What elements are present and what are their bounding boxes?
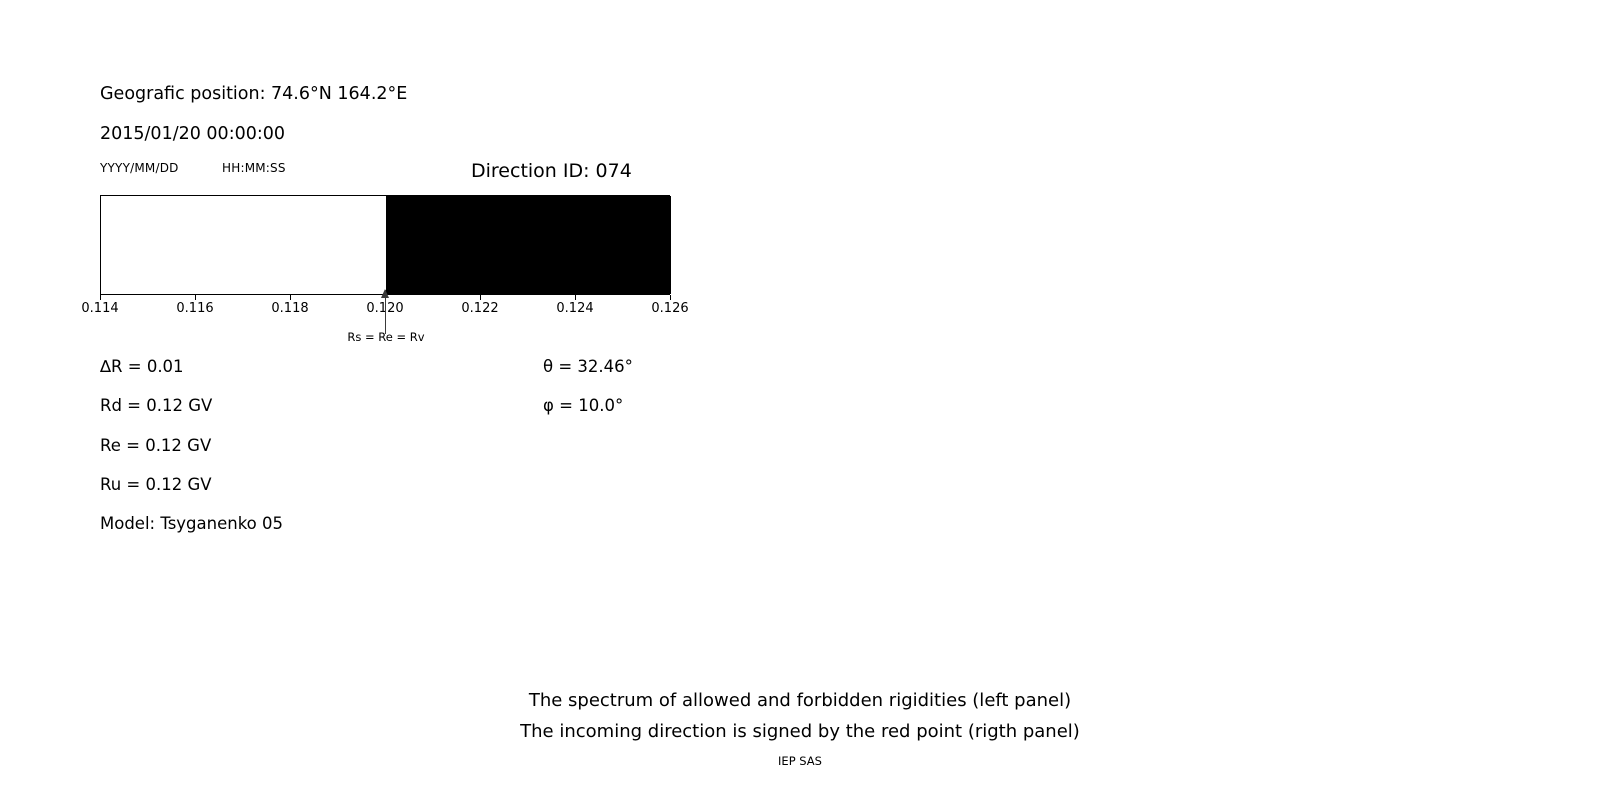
parameter-item: ∆R = 0.01: [100, 357, 184, 376]
parameter-item: θ = 32.46°: [543, 357, 633, 376]
cutoff-arrow-label: Rs = Re = Rv: [347, 330, 424, 344]
spectrum-tick-label: 0.116: [176, 301, 213, 316]
spectrum-allowed-band: [101, 196, 386, 294]
spectrum-forbidden-band: [386, 196, 671, 294]
spectrum-tick: [290, 295, 291, 300]
parameter-item: Ru = 0.12 GV: [100, 475, 212, 494]
date-format-label: YYYY/MM/DD: [100, 161, 179, 175]
spectrum-tick-label: 0.122: [461, 301, 498, 316]
spectrum-tick: [480, 295, 481, 300]
spectrum-tick: [670, 295, 671, 300]
direction-id-label: Direction ID: 074: [471, 160, 632, 182]
cutoff-arrow-icon: [385, 290, 387, 334]
figure-caption: The spectrum of allowed and forbidden ri…: [0, 685, 1600, 747]
parameter-item: Rd = 0.12 GV: [100, 396, 212, 415]
plot-x-axis: −1.00−0.75−0.50−0.250.000.250.500.751.00: [820, 0, 1600, 800]
caption-line-2: The incoming direction is signed by the …: [0, 716, 1600, 747]
parameter-item: Model: Tsyganenko 05: [100, 514, 283, 533]
direction-map-panel: −1.00−0.75−0.50−0.250.000.250.500.751.00…: [820, 0, 1600, 660]
spectrum-tick-label: 0.118: [271, 301, 308, 316]
parameter-item: φ = 10.0°: [543, 396, 623, 415]
spectrum-tick: [100, 295, 101, 300]
geographic-position-label: Geografic position: 74.6°N 164.2°E: [100, 84, 407, 104]
footer-label: IEP SAS: [0, 754, 1600, 768]
rigidity-spectrum-panel: Geografic position: 74.6°N 164.2°E 2015/…: [0, 0, 760, 660]
datetime-label: 2015/01/20 00:00:00: [100, 124, 285, 144]
spectrum-bar: [100, 195, 670, 295]
spectrum-tick: [575, 295, 576, 300]
spectrum-tick-label: 0.114: [81, 301, 118, 316]
caption-line-1: The spectrum of allowed and forbidden ri…: [0, 685, 1600, 716]
spectrum-tick: [195, 295, 196, 300]
time-format-label: HH:MM:SS: [222, 161, 286, 175]
spectrum-tick-label: 0.126: [651, 301, 688, 316]
parameter-item: Re = 0.12 GV: [100, 436, 211, 455]
spectrum-tick-label: 0.124: [556, 301, 593, 316]
